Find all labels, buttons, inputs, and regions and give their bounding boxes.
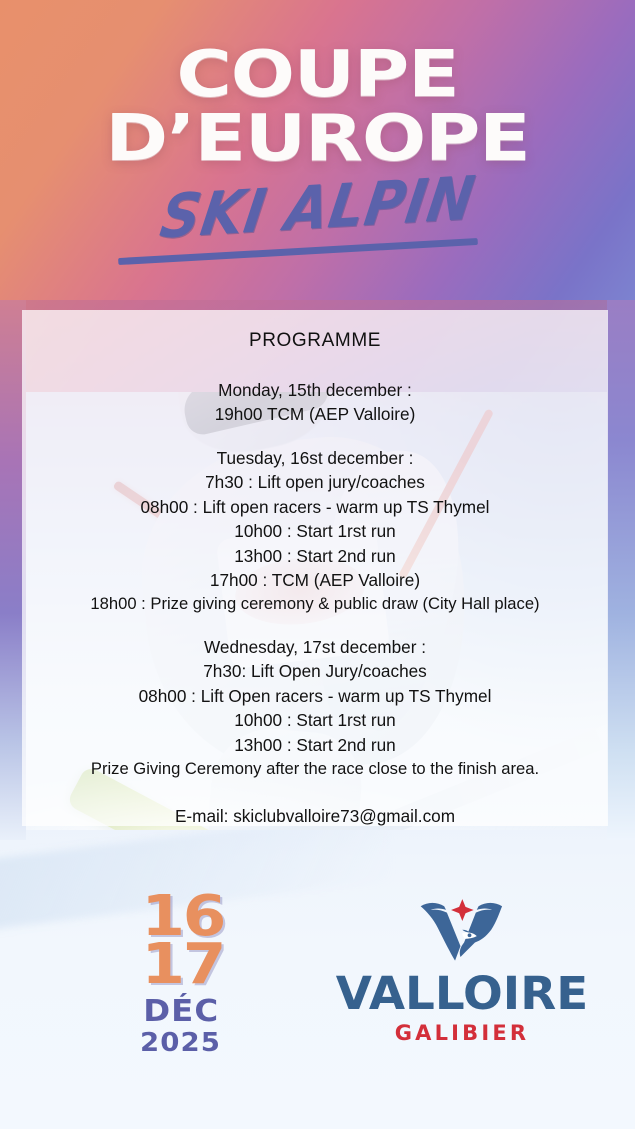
title-line-deurope: D’EUROPE [0, 110, 635, 170]
valloire-eagle-icon [408, 890, 517, 966]
date-day-17: 17 [140, 941, 226, 989]
day-entry-mon-1: 19h00 TCM (AEP Valloire) [22, 402, 608, 426]
day-entry-tue-4: 13h00 : Start 2nd run [22, 544, 608, 568]
day-entry-tue-3: 10h00 : Start 1rst run [22, 519, 608, 543]
day-entry-wed-2: 08h00 : Lift Open racers - warm up TS Th… [22, 684, 608, 708]
title-line-coupe: COUPE [0, 46, 635, 106]
day-date-tuesday: Tuesday, 16st december : [22, 446, 608, 470]
event-date-badge: 16 17 DÉC 2025 [140, 893, 216, 1056]
day-entry-tue-1: 7h30 : Lift open jury/coaches [22, 470, 608, 494]
programme-panel: PROGRAMME Monday, 15th december : 19h00 … [22, 310, 608, 826]
day-date-monday: Monday, 15th december : [22, 378, 608, 402]
day-entry-tue-2: 08h00 : Lift open racers - warm up TS Th… [22, 495, 608, 519]
poster-root: COUPE D’EUROPE SKI ALPIN PROGRAMME Monda… [0, 0, 635, 1129]
programme-content: PROGRAMME Monday, 15th december : 19h00 … [22, 328, 608, 828]
spacer [22, 781, 608, 800]
spacer [22, 359, 608, 378]
day-entry-tue-5: 17h00 : TCM (AEP Valloire) [22, 568, 608, 592]
day-entry-wed-3: 10h00 : Start 1rst run [22, 708, 608, 732]
gradient-edge-right [607, 300, 635, 840]
date-month: DÉC [140, 997, 222, 1027]
day-entry-wed-1: 7h30: Lift Open Jury/coaches [22, 659, 608, 683]
valloire-wordmark: VALLOIRE [312, 971, 612, 1016]
day-entry-wed-4: 13h00 : Start 2nd run [22, 733, 608, 757]
galibier-wordmark: GALIBIER [318, 1023, 606, 1044]
spacer [22, 616, 608, 635]
date-year: 2025 [140, 1030, 221, 1056]
spacer [22, 427, 608, 446]
day-entry-tue-6: 18h00 : Prize giving ceremony & public d… [22, 592, 608, 616]
valloire-logo: VALLOIRE GALIBIER [318, 890, 606, 1044]
contact-email[interactable]: E-mail: skiclubvalloire73@gmail.com [22, 804, 608, 828]
day-entry-wed-5: Prize Giving Ceremony after the race clo… [22, 757, 608, 781]
poster-title: COUPE D’EUROPE [0, 46, 635, 169]
day-date-wednesday: Wednesday, 17st december : [22, 635, 608, 659]
programme-heading: PROGRAMME [22, 328, 608, 355]
